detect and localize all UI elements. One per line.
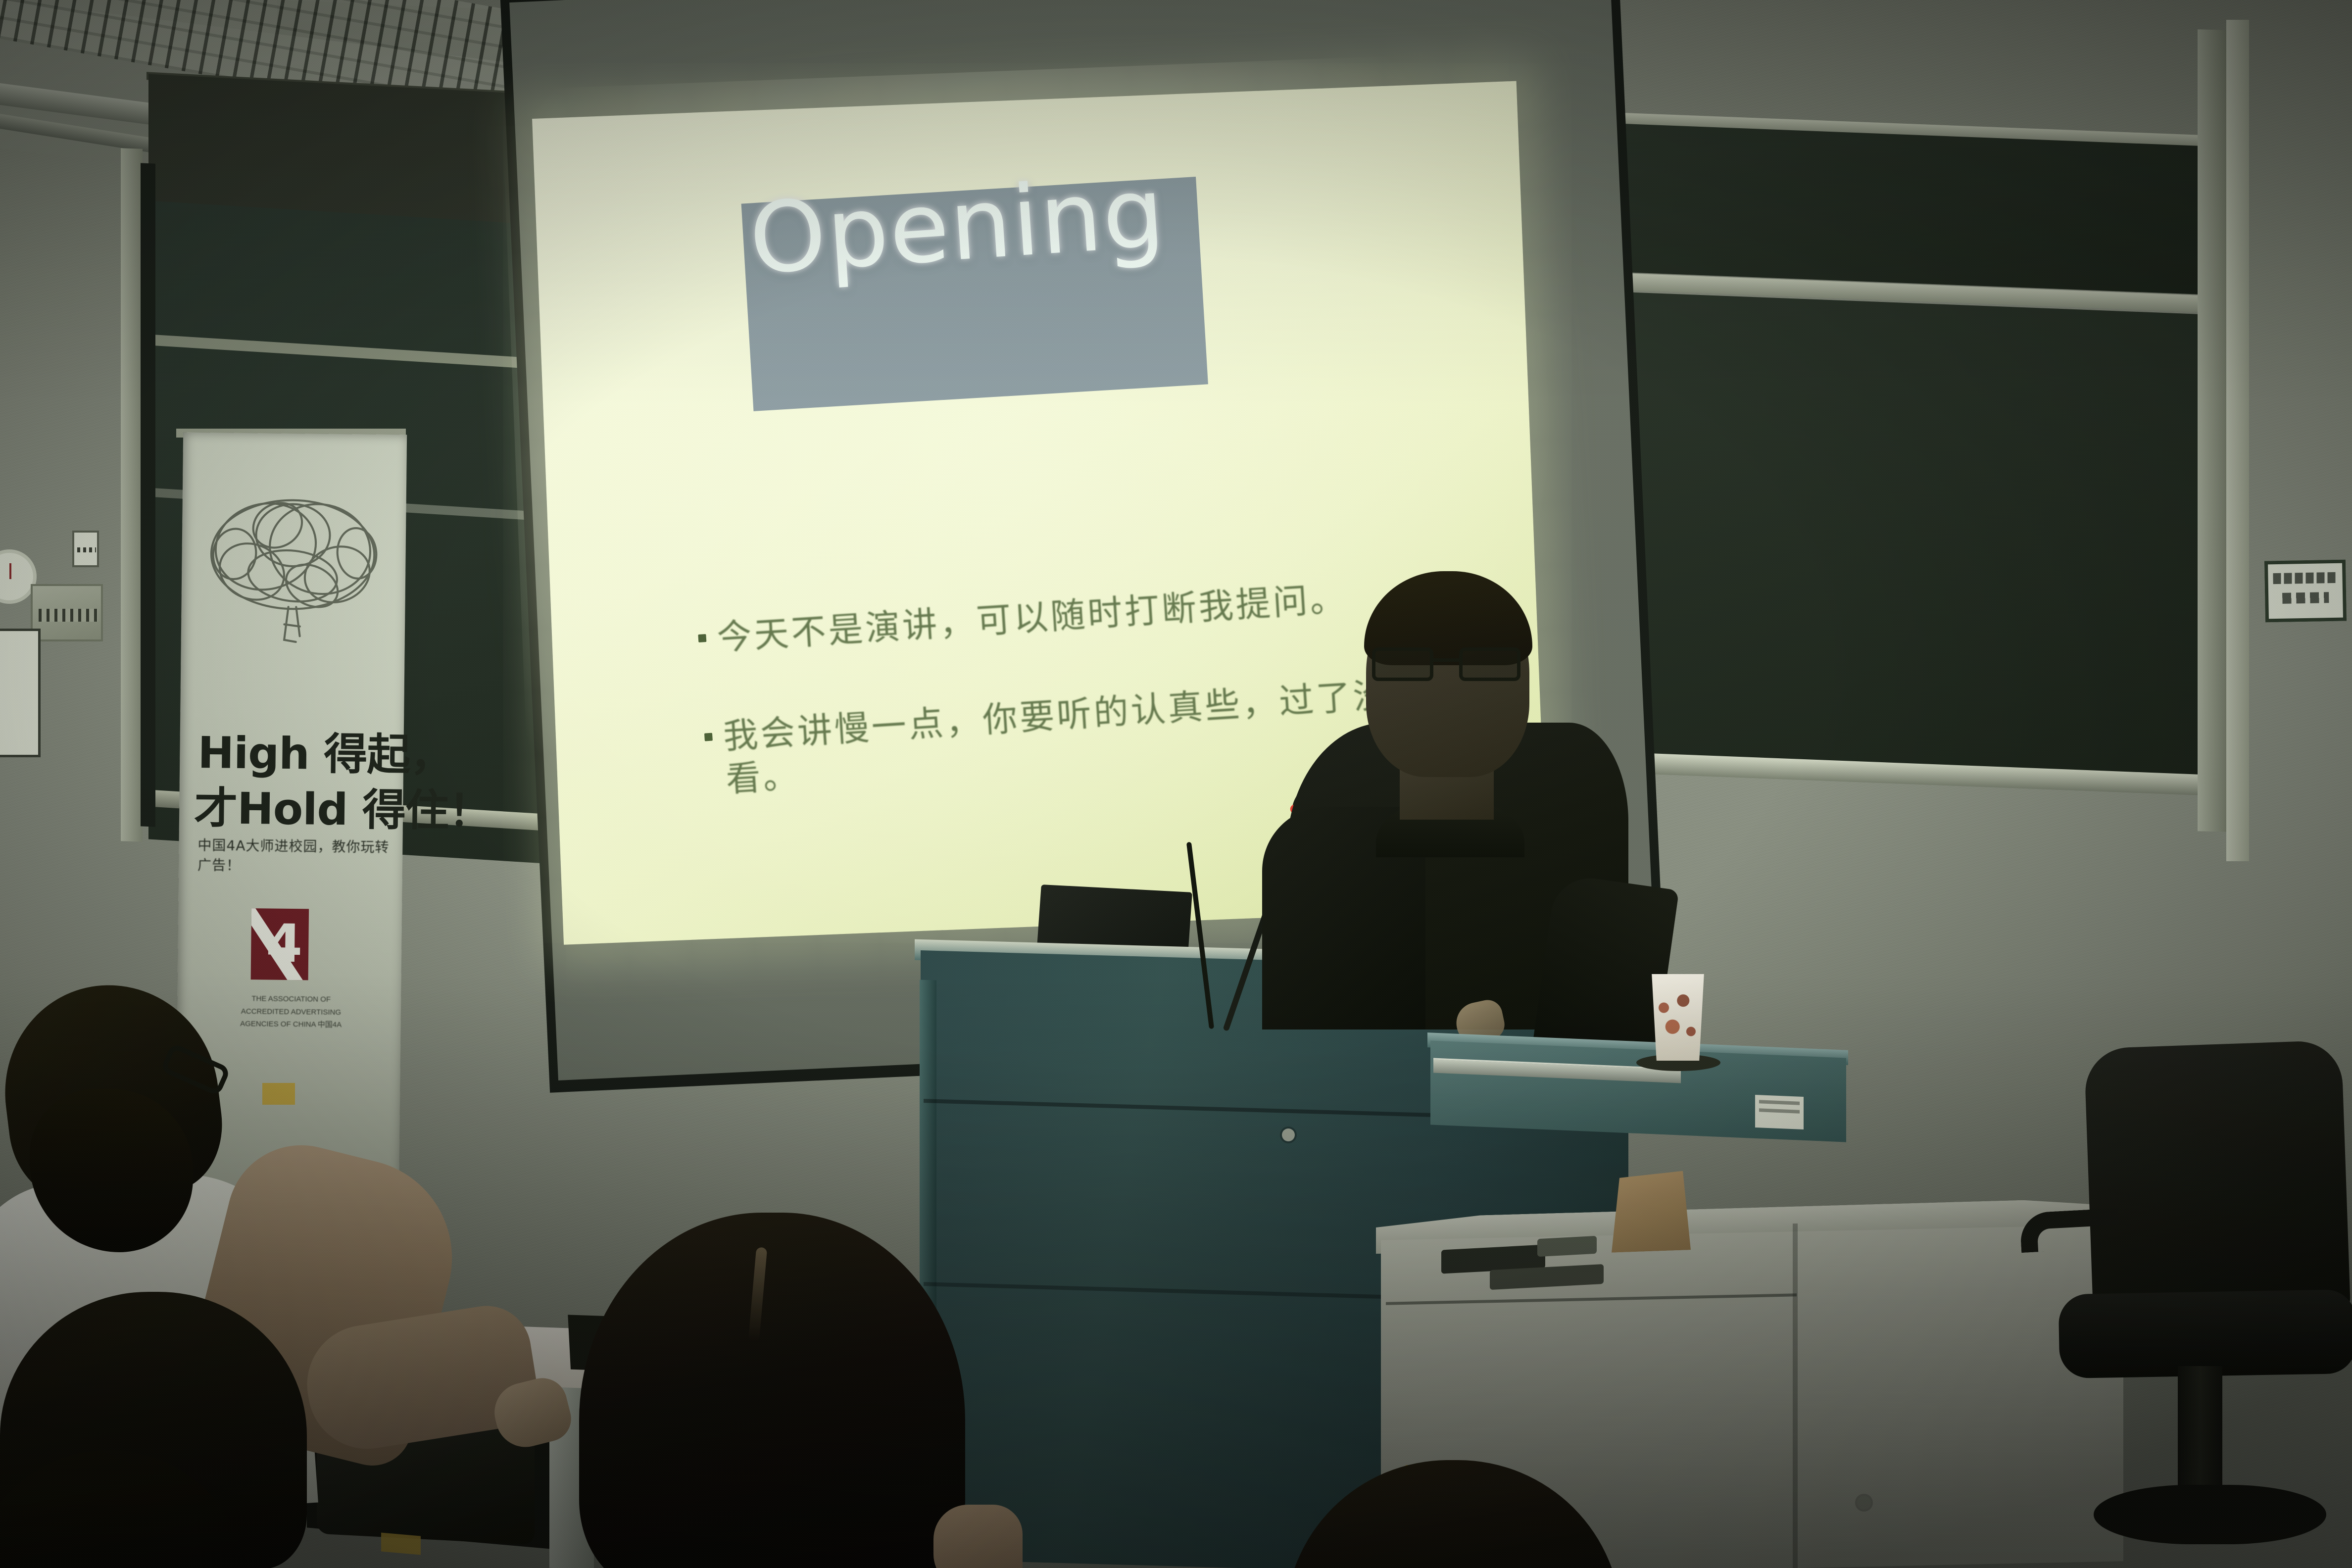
bullet-dot-icon	[704, 733, 713, 741]
remote-control-small[interactable]	[1537, 1236, 1597, 1257]
slide-bullet-text: 今天不是演讲，可以随时打断我提问。	[716, 577, 1348, 660]
panel-slots-icon	[39, 609, 98, 622]
student-raised-hand	[933, 1505, 1023, 1568]
podium-lock-icon[interactable]	[1282, 1128, 1295, 1141]
presenter	[1267, 574, 1643, 1010]
logo-digit: 4	[266, 917, 303, 970]
wall-switch-plate[interactable]	[72, 531, 99, 567]
presenter-glasses-icon	[1372, 647, 1520, 682]
slide-title: Opening	[746, 160, 1227, 288]
glasses-lens-right	[1459, 647, 1520, 681]
wall-sign-line-2	[2282, 592, 2329, 604]
label-line	[1759, 1108, 1800, 1113]
paper-cup-pattern	[1653, 990, 1702, 1049]
electrical-panel[interactable]	[31, 584, 103, 641]
cabinet-knob-icon[interactable]	[1857, 1496, 1871, 1510]
wall-sign-line-1	[2273, 572, 2337, 584]
left-wall-recess	[141, 163, 155, 827]
logo-caption: THE ASSOCIATION OF ACCREDITED ADVERTISIN…	[237, 992, 346, 1031]
banner-headline-2: 才Hold 得住！	[194, 773, 492, 839]
wall-sign	[2264, 560, 2347, 623]
chalkboard-main-panel	[1559, 290, 2203, 780]
wall-poster	[0, 629, 41, 757]
brain-scribble-icon	[195, 476, 391, 656]
office-chair-gas-lift	[2178, 1366, 2222, 1495]
banner-subline: 中国4A大师进校园，教你玩转广告！	[197, 834, 391, 876]
wall-pillar-outer	[2226, 20, 2249, 861]
shelf-label-tag	[1755, 1095, 1804, 1129]
office-chair-seat[interactable]	[2058, 1289, 2352, 1378]
bullet-dot-icon	[698, 634, 706, 642]
office-chair-backrest[interactable]	[2084, 1040, 2351, 1326]
wall-pillar	[2198, 29, 2227, 832]
classroom-presentation-photo: Opening 今天不是演讲，可以随时打断我提问。 我会讲慢一点，你要听的认真些…	[0, 0, 2352, 1568]
glasses-bridge	[1433, 658, 1459, 662]
clock-hand	[9, 563, 11, 579]
switch-dots-icon	[77, 547, 96, 552]
office-chair-base	[2094, 1485, 2326, 1544]
desk-sticker	[381, 1533, 421, 1555]
wall-sticker	[262, 1083, 295, 1105]
label-line	[1759, 1100, 1800, 1105]
cabinet-corner-edge	[1793, 1224, 1798, 1568]
chalkboard-upper-panel	[1564, 121, 2198, 294]
glasses-lens-left	[1372, 647, 1433, 681]
agency-4a-logo: 4	[251, 908, 309, 980]
cardboard-box[interactable]	[1612, 1171, 1691, 1253]
left-wall-jamb	[121, 148, 143, 842]
